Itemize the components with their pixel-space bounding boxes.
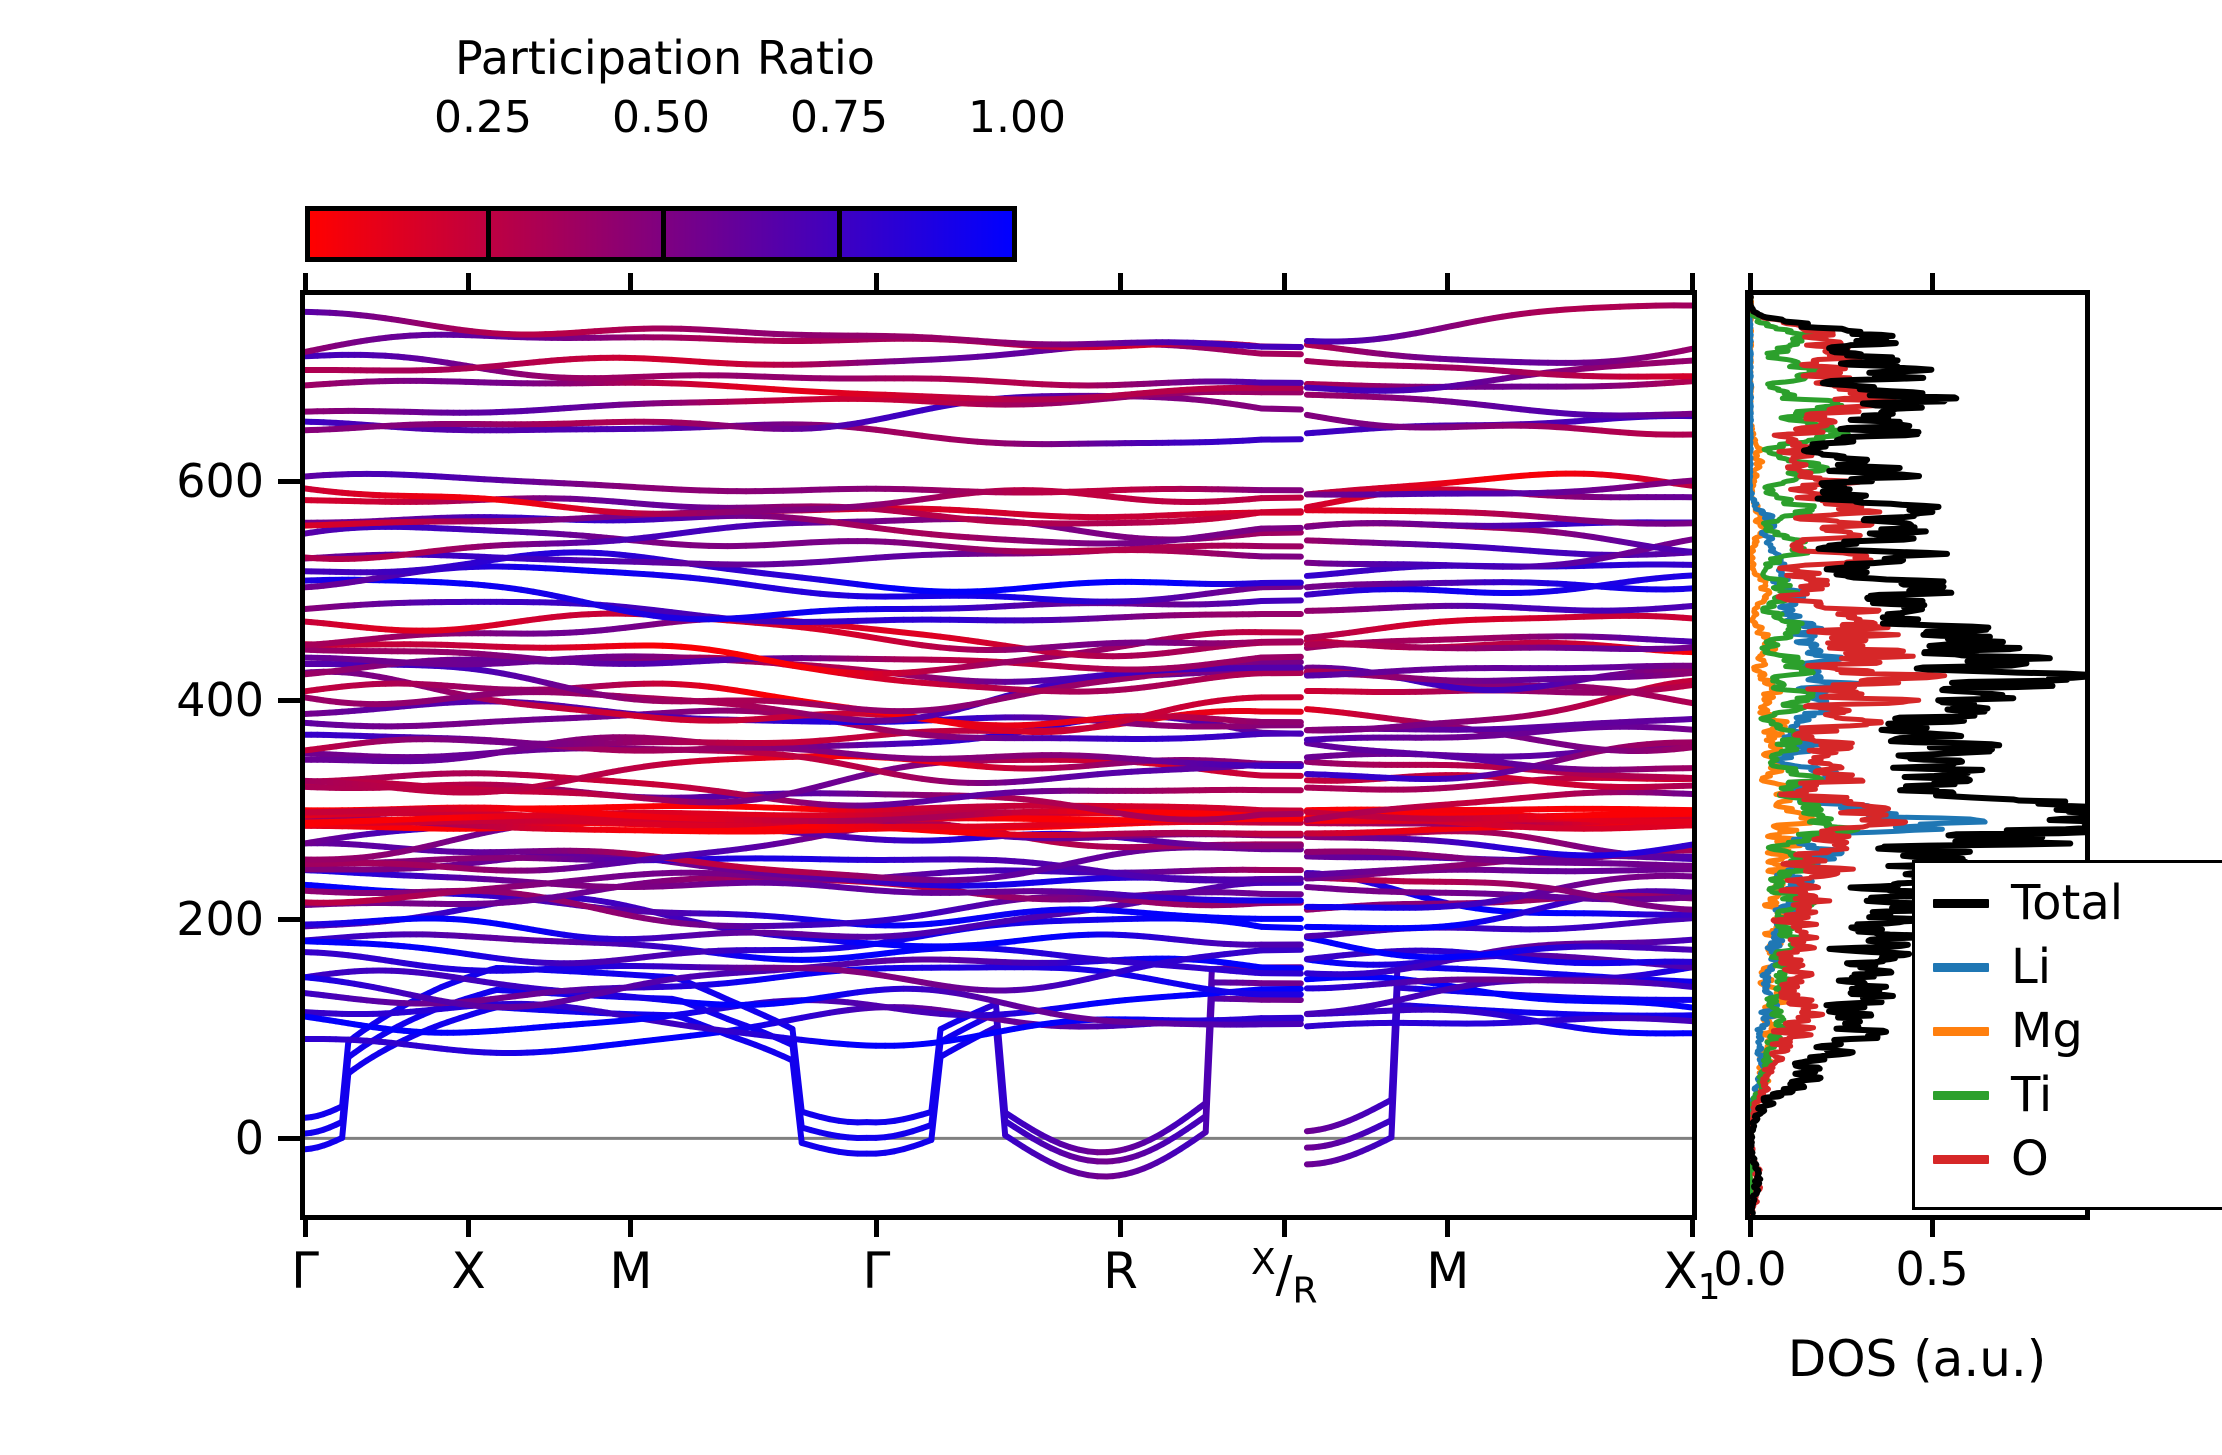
dos-x-ticklabel-1: 0.5 bbox=[1895, 1242, 1968, 1296]
legend-swatch-total bbox=[1933, 899, 1989, 908]
legend-swatch-ti bbox=[1933, 1091, 1989, 1100]
band-x-ticklabel-6: M bbox=[1426, 1242, 1469, 1300]
band-x-tickmark bbox=[303, 1215, 308, 1237]
band-y-tickmark bbox=[278, 698, 300, 703]
band-x-tickmark-top bbox=[628, 273, 633, 295]
band-x-ticklabel-0: Γ bbox=[291, 1242, 319, 1300]
band-x-tickmark bbox=[466, 1215, 471, 1237]
colorbar-tickmark bbox=[837, 211, 842, 257]
band-x-ticklabel-1: X bbox=[452, 1242, 486, 1300]
colorbar-tick-labels: 0.250.500.751.00 bbox=[305, 92, 1025, 144]
legend-item-ti: Ti bbox=[1915, 1063, 2222, 1127]
band-x-tickmark-top bbox=[1445, 273, 1450, 295]
band-y-ticklabel: 200 bbox=[0, 892, 264, 946]
colorbar-tick-0-25: 0.25 bbox=[434, 92, 532, 143]
band-x-tickmark bbox=[874, 1215, 879, 1237]
band-x-ticklabel-5: X/R bbox=[1251, 1242, 1318, 1312]
band-y-tickmark bbox=[278, 479, 300, 484]
colorbar-tickmark bbox=[661, 211, 666, 257]
colorbar-tick-1-00: 1.00 bbox=[968, 92, 1066, 143]
band-structure-plot bbox=[305, 295, 1692, 1215]
legend-swatch-mg bbox=[1933, 1027, 1989, 1036]
band-x-ticklabel-3: Γ bbox=[863, 1242, 891, 1300]
band-x-tickmark-top bbox=[1690, 273, 1695, 295]
band-x-tickmark-top bbox=[303, 273, 308, 295]
band-x-tickmark-top bbox=[1118, 273, 1123, 295]
band-x-tickmark-top bbox=[1282, 273, 1287, 295]
band-x-ticklabel-4: R bbox=[1103, 1242, 1138, 1300]
dos-x-tickmark bbox=[1930, 1215, 1935, 1237]
band-x-ticklabel-7: X1 bbox=[1663, 1242, 1720, 1308]
band-x-tickmark bbox=[1118, 1215, 1123, 1237]
dos-x-tickmark-top bbox=[1748, 273, 1753, 295]
legend-item-o: O bbox=[1915, 1127, 2222, 1191]
band-structure-panel bbox=[300, 290, 1697, 1220]
participation-ratio-colorbar bbox=[305, 206, 1017, 262]
band-y-tickmark bbox=[278, 1136, 300, 1141]
band-y-tickmark bbox=[278, 917, 300, 922]
legend-item-total: Total bbox=[1915, 871, 2222, 935]
band-y-ticklabel: 600 bbox=[0, 454, 264, 508]
legend-label-ti: Ti bbox=[2011, 1071, 2052, 1119]
band-x-tickmark bbox=[1445, 1215, 1450, 1237]
dos-x-tickmark-top bbox=[1930, 273, 1935, 295]
colorbar-tickmark bbox=[486, 211, 491, 257]
phonon-figure: Participation Ratio 0.250.500.751.00 Fre… bbox=[0, 0, 2222, 1455]
legend-swatch-li bbox=[1933, 963, 1989, 972]
legend-label-total: Total bbox=[2011, 879, 2123, 927]
colorbar-tick-0-50: 0.50 bbox=[612, 92, 710, 143]
band-x-tickmark bbox=[1282, 1215, 1287, 1237]
band-y-ticklabel: 0 bbox=[0, 1111, 264, 1165]
dos-x-ticklabel-0: 0.0 bbox=[1713, 1242, 1786, 1296]
dos-x-tickmark bbox=[1748, 1215, 1753, 1237]
legend-item-mg: Mg bbox=[1915, 999, 2222, 1063]
legend-swatch-o bbox=[1933, 1155, 1989, 1164]
band-x-ticklabel-2: M bbox=[609, 1242, 652, 1300]
legend-label-mg: Mg bbox=[2011, 1007, 2083, 1055]
band-x-tickmark bbox=[1690, 1215, 1695, 1237]
legend-label-li: Li bbox=[2011, 943, 2051, 991]
band-x-tickmark bbox=[628, 1215, 633, 1237]
dos-legend: TotalLiMgTiO bbox=[1912, 860, 2222, 1210]
dos-x-axis-label: DOS (a.u.) bbox=[1788, 1330, 2047, 1388]
band-x-tickmark-top bbox=[466, 273, 471, 295]
band-x-tickmark-top bbox=[874, 273, 879, 295]
band-y-ticklabel: 400 bbox=[0, 673, 264, 727]
legend-label-o: O bbox=[2011, 1135, 2049, 1183]
band-lines bbox=[305, 305, 1692, 1176]
legend-item-li: Li bbox=[1915, 935, 2222, 999]
colorbar-title: Participation Ratio bbox=[305, 32, 1025, 84]
colorbar-tick-0-75: 0.75 bbox=[790, 92, 888, 143]
